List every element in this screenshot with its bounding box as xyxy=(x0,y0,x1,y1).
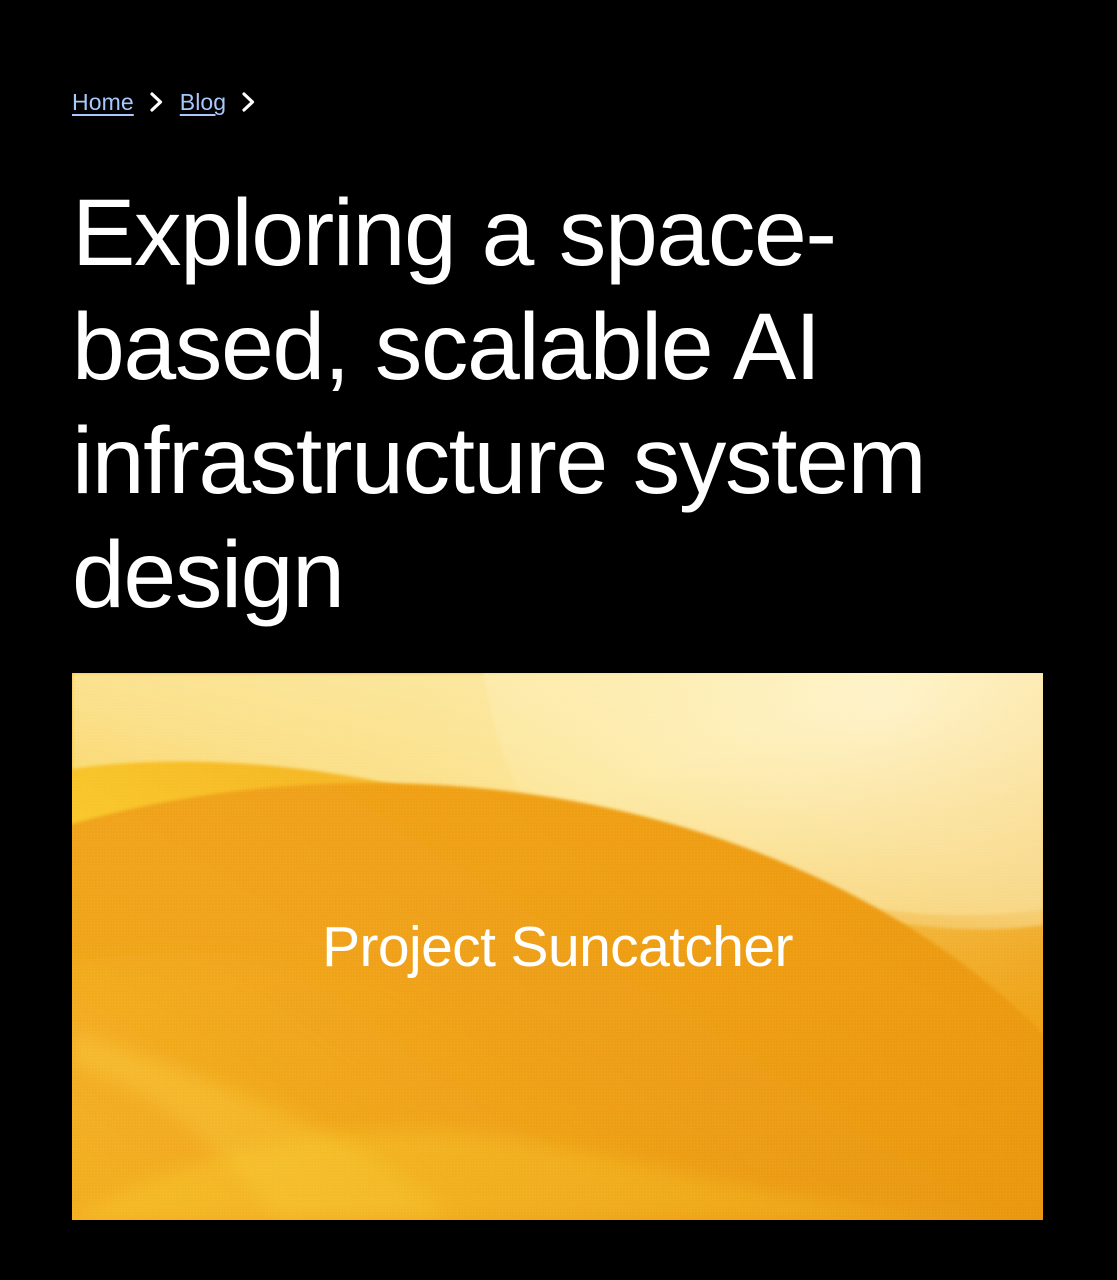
article-page: Home Blog Exploring a space-based, scala… xyxy=(0,0,1117,1280)
breadcrumb-link-home[interactable]: Home xyxy=(72,87,134,117)
chevron-right-icon xyxy=(134,87,180,117)
page-title: Exploring a space-based, scalable AI inf… xyxy=(72,176,972,632)
chevron-right-icon xyxy=(226,87,272,117)
breadcrumb: Home Blog xyxy=(72,82,272,122)
breadcrumb-link-blog[interactable]: Blog xyxy=(180,87,226,117)
hero-caption: Project Suncatcher xyxy=(72,914,1043,980)
hero-image: Project Suncatcher xyxy=(72,673,1043,1220)
